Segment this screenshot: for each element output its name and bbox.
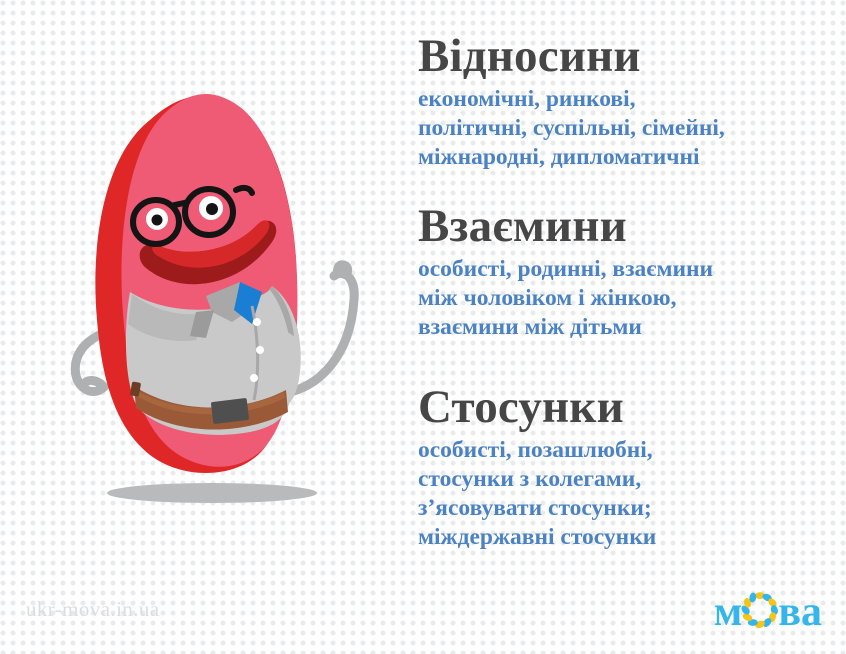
- wreath-ring-icon: [740, 590, 780, 630]
- entry-title-vidnosyny: Відносини: [418, 32, 838, 81]
- character-illustration: [0, 0, 410, 654]
- entry-line: політичні, суспільні, сімейні,: [418, 114, 838, 143]
- mova-logo[interactable]: м ва: [714, 584, 822, 636]
- entry-line: особисті, позашлюбні,: [418, 436, 838, 465]
- ground-shadow-ellipse: [107, 483, 317, 503]
- suit-button-2: [256, 346, 264, 354]
- entry-line: економічні, ринкові,: [418, 85, 838, 114]
- site-watermark: ukr-mova.in.ua: [26, 597, 159, 622]
- entry-lines-stosunky: особисті, позашлюбні, стосунки з колегам…: [418, 436, 838, 552]
- definition-entry-stosunky: Стосунки особисті, позашлюбні, стосунки …: [418, 383, 838, 552]
- definition-entry-vzaiemyny: Взаємини особисті, родинні, взаємини між…: [418, 202, 838, 342]
- entry-title-stosunky: Стосунки: [418, 383, 838, 432]
- left-hand: [84, 380, 104, 387]
- entry-line: особисті, родинні, взаємини: [418, 255, 838, 284]
- entry-line: між чоловіком і жінкою,: [418, 284, 838, 313]
- right-eye-pupil: [206, 203, 218, 215]
- belt-buckle: [211, 398, 249, 424]
- entry-line: міждержавні стосунки: [418, 523, 838, 552]
- entry-line: міжнародні, дипломатичні: [418, 143, 838, 172]
- entry-line: взаємини між дітьми: [418, 313, 838, 342]
- suit-button-3: [250, 374, 258, 382]
- poster-canvas: Відносини економічні, ринкові, політичні…: [0, 0, 846, 654]
- definitions-column: Відносини економічні, ринкові, політичні…: [418, 0, 838, 600]
- logo-text-before: м: [714, 591, 743, 633]
- left-eye-pupil: [152, 215, 163, 226]
- entry-lines-vidnosyny: економічні, ринкові, політичні, суспільн…: [418, 85, 838, 172]
- definition-entry-vidnosyny: Відносини економічні, ринкові, політичні…: [418, 32, 838, 172]
- entry-line: стосунки з колегами,: [418, 465, 838, 494]
- entry-lines-vzaiemyny: особисті, родинні, взаємини між чоловіко…: [418, 255, 838, 342]
- entry-title-vzaiemyny: Взаємини: [418, 202, 838, 251]
- entry-line: з’ясовувати стосунки;: [418, 494, 838, 523]
- suit-button-1: [253, 318, 261, 326]
- logo-text-after: ва: [778, 591, 822, 633]
